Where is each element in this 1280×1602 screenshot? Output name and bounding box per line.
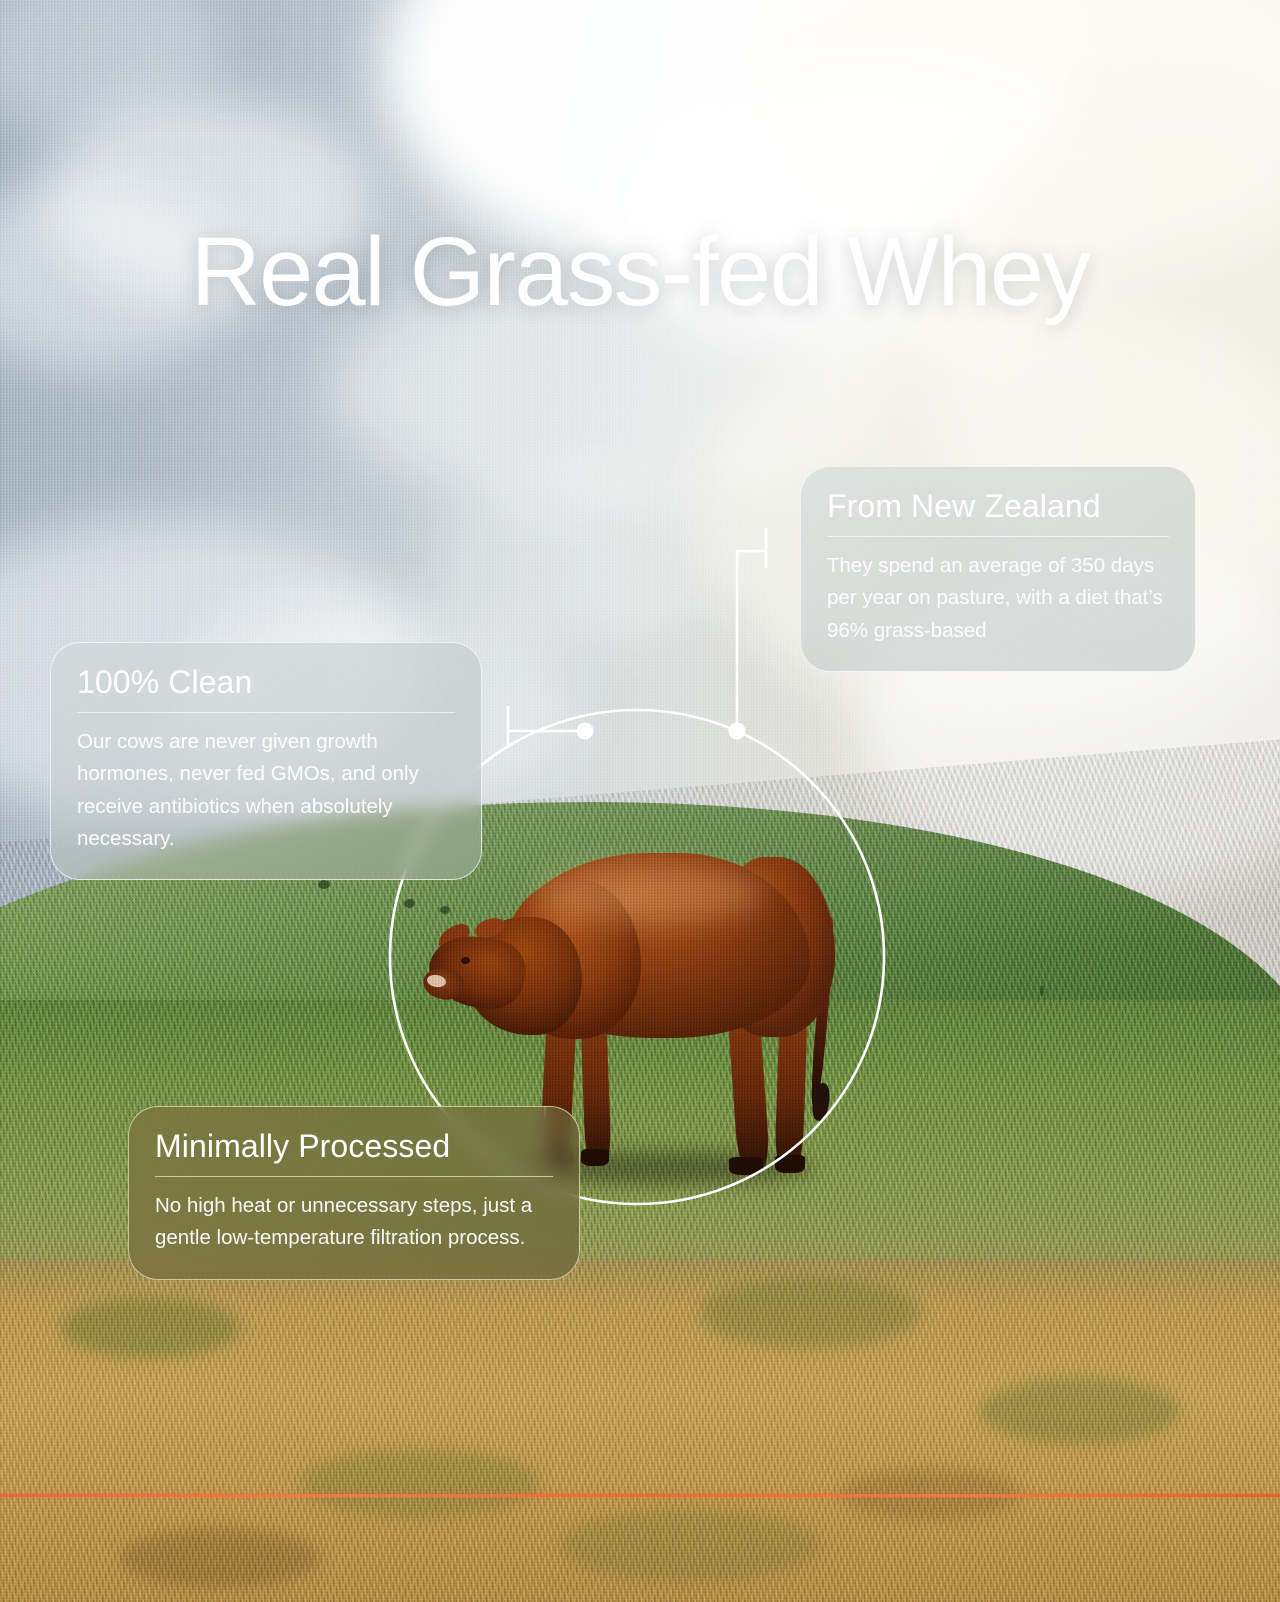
callout-body: No high heat or unnecessary steps, just … [155, 1190, 553, 1255]
callout-title: Minimally Processed [155, 1129, 553, 1165]
callout-card-clean[interactable]: 100% Clean Our cows are never given grow… [50, 642, 482, 880]
callout-body: Our cows are never given growth hormones… [77, 726, 455, 856]
horizon-bush [404, 899, 415, 908]
callout-card-new-zealand[interactable]: From New Zealand They spend an average o… [800, 466, 1196, 672]
page-title: Real Grass-fed Whey [0, 218, 1280, 327]
horizon-tree [1040, 986, 1044, 996]
callout-title: From New Zealand [827, 489, 1169, 525]
hero-poster: Real Grass-fed Whey From New Zealand The… [0, 0, 1280, 1602]
cloud-shape [430, 470, 730, 650]
callout-body: They spend an average of 350 days per ye… [827, 550, 1169, 647]
callout-title: 100% Clean [77, 665, 455, 701]
horizon-bush [318, 880, 330, 889]
callout-divider [155, 1176, 553, 1177]
callout-card-minimally-processed[interactable]: Minimally Processed No high heat or unne… [128, 1106, 580, 1280]
callout-divider [77, 712, 455, 713]
dry-grass-foreground [0, 1258, 1280, 1602]
accent-divider-line [0, 1494, 1280, 1497]
callout-divider [827, 536, 1169, 537]
